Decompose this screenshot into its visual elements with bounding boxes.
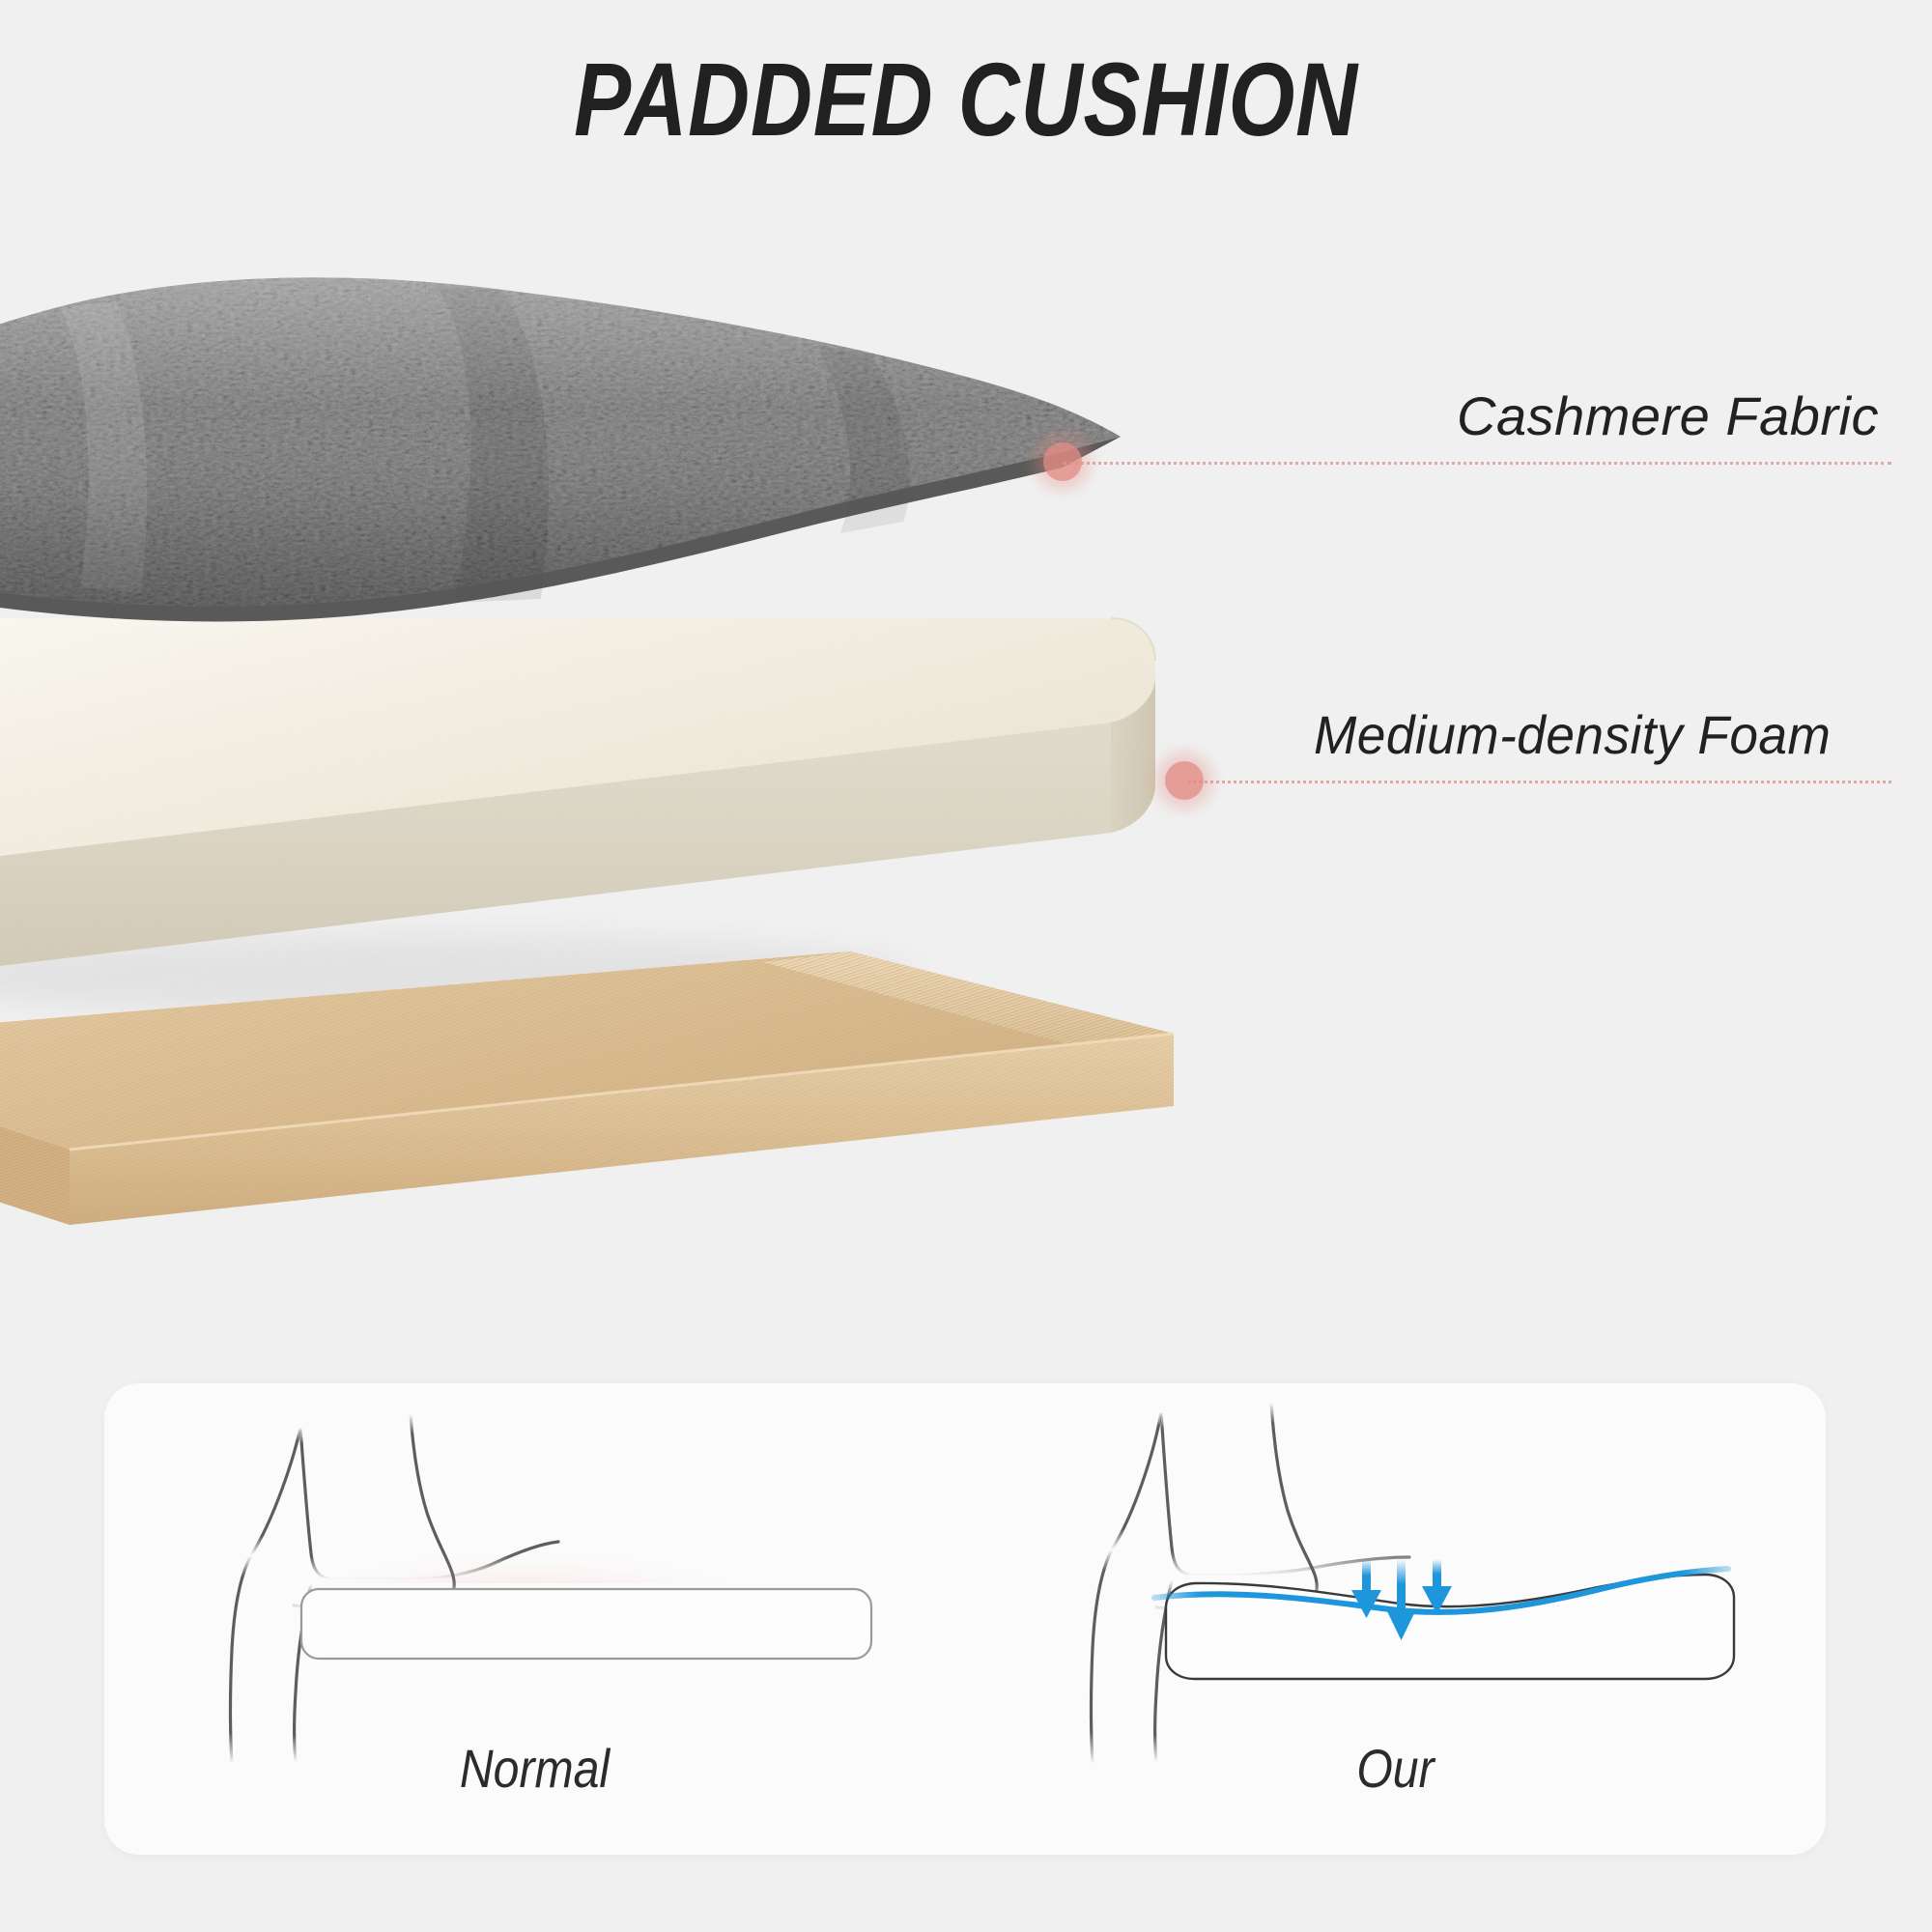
cushion-flat <box>301 1589 871 1659</box>
layer-cashmere-fabric <box>0 277 1121 621</box>
marker-dot-medium-density-foam <box>1165 761 1204 800</box>
caption-our: Our <box>1025 1737 1765 1800</box>
leader-line-medium-density-foam <box>1188 781 1891 783</box>
leader-line-cashmere-fabric <box>1063 462 1891 465</box>
exploded-layer-illustration <box>0 0 1932 1352</box>
cushion-contoured <box>1166 1575 1734 1679</box>
label-medium-density-foam: Medium-density Foam <box>1314 703 1831 766</box>
body-silhouette-our <box>1092 1403 1410 1764</box>
caption-normal: Normal <box>164 1737 904 1800</box>
infographic-canvas: PADDED CUSHION <box>0 0 1932 1932</box>
marker-dot-cashmere-fabric <box>1043 442 1082 481</box>
label-cashmere-fabric: Cashmere Fabric <box>1457 384 1879 447</box>
comparison-our: Our <box>965 1383 1826 1855</box>
comparison-normal: Normal <box>104 1383 965 1855</box>
comparison-panel: Normal <box>104 1383 1826 1855</box>
